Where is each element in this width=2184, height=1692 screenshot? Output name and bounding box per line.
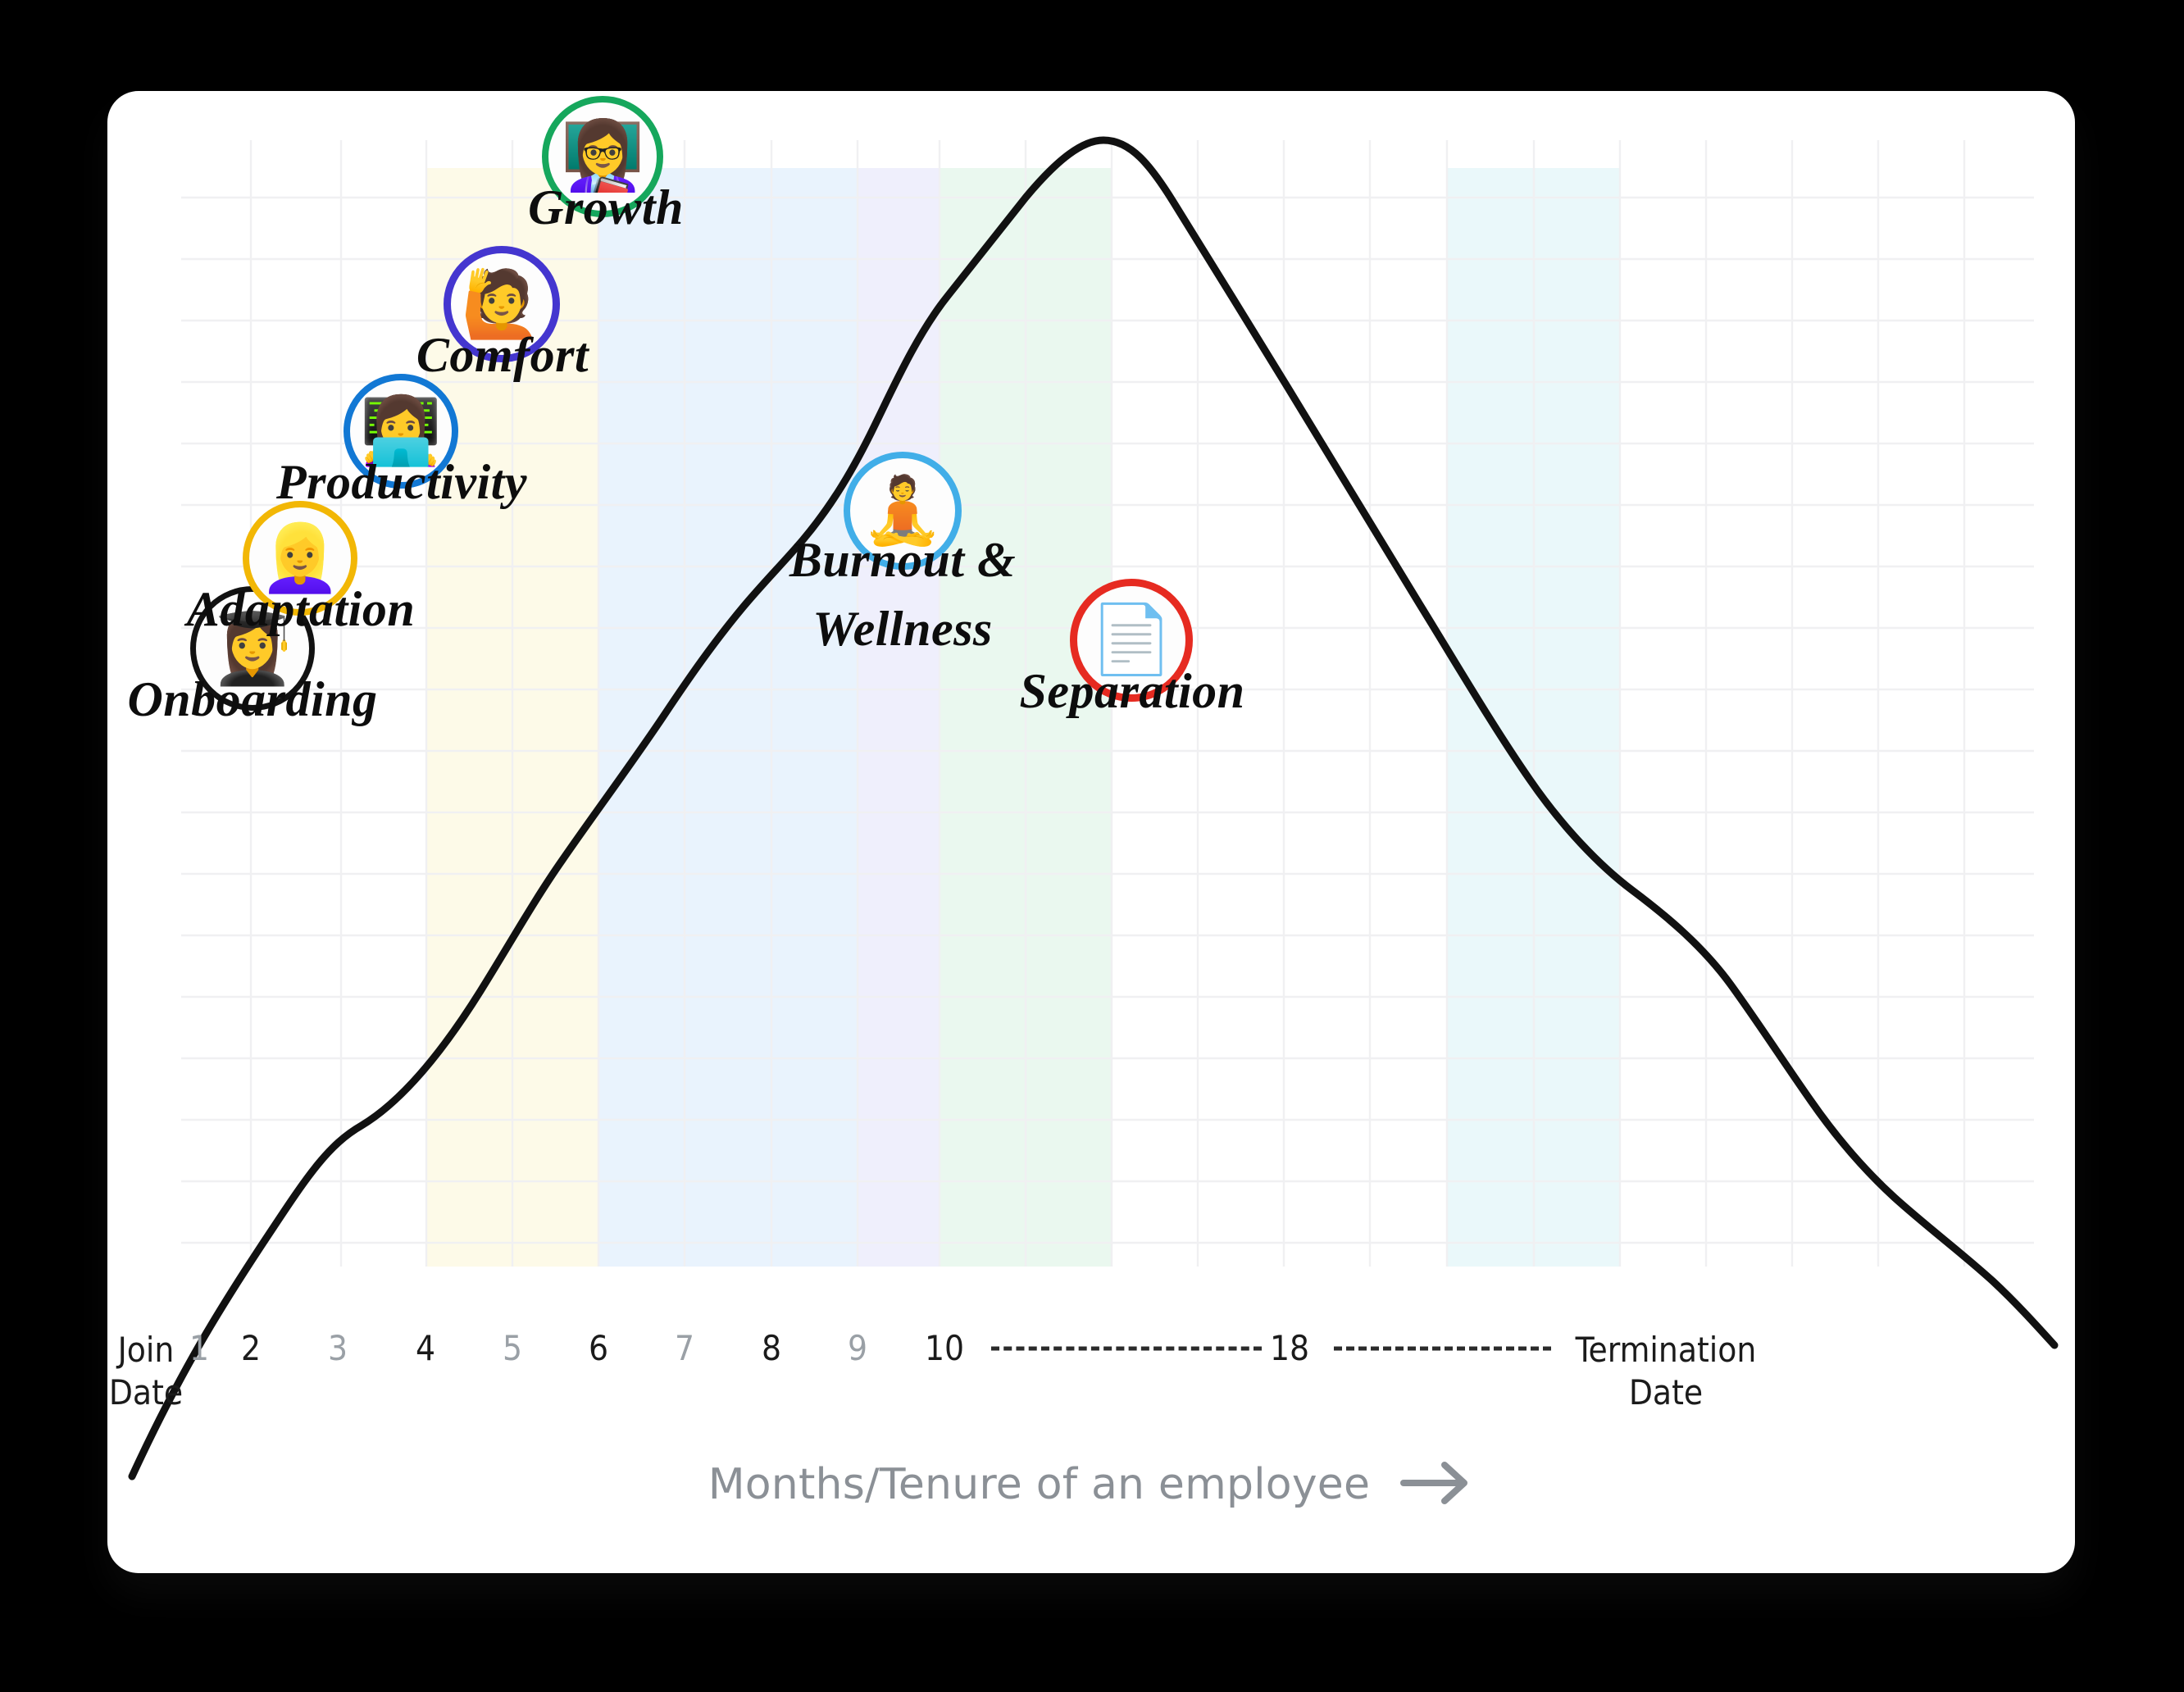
x-tick-10: 10 — [925, 1329, 964, 1368]
screenshot-stage: 👩‍🎓 Onboarding 👱‍♀️ Adaptation 👩‍💻 Produ… — [0, 0, 2184, 1692]
x-axis-dash-left — [991, 1347, 1262, 1351]
chart-card: 👩‍🎓 Onboarding 👱‍♀️ Adaptation 👩‍💻 Produ… — [107, 91, 2075, 1573]
x-axis-caption: Months/Tenure of an employee — [107, 1460, 2075, 1509]
x-tick-termination-date: Termination Date — [1576, 1329, 1757, 1414]
x-axis: Join Date 1 2 3 4 5 6 7 8 9 10 18 Termin… — [107, 1329, 2075, 1452]
x-tick-8: 8 — [762, 1329, 781, 1368]
x-tick-18: 18 — [1270, 1329, 1309, 1368]
x-tick-join-date: Join Date — [109, 1329, 183, 1414]
x-tick-6: 6 — [589, 1329, 608, 1368]
x-tick-4: 4 — [416, 1329, 435, 1368]
x-tick-1: 1 — [189, 1329, 209, 1368]
x-tick-7: 7 — [675, 1329, 694, 1368]
x-tick-2: 2 — [241, 1329, 261, 1368]
x-tick-3: 3 — [328, 1329, 348, 1368]
milestone-label-comfort: Comfort — [416, 321, 589, 389]
milestone-label-onboarding: Onboarding — [127, 665, 377, 734]
milestone-label-productivity: Productivity — [276, 448, 527, 516]
milestone-label-burnout-wellness: Burnout & Wellness — [789, 525, 1016, 663]
milestone-label-adaptation: Adaptation — [187, 575, 415, 644]
x-tick-5: 5 — [503, 1329, 522, 1368]
phase-band-productivity — [598, 168, 858, 1267]
x-tick-9: 9 — [848, 1329, 867, 1368]
x-axis-dash-right — [1334, 1347, 1551, 1351]
x-axis-caption-text: Months/Tenure of an employee — [708, 1460, 1370, 1509]
phase-band-comfort — [858, 168, 940, 1267]
milestone-label-separation: Separation — [1019, 657, 1244, 725]
arrow-right-icon — [1400, 1460, 1474, 1509]
milestone-label-growth: Growth — [528, 173, 684, 242]
